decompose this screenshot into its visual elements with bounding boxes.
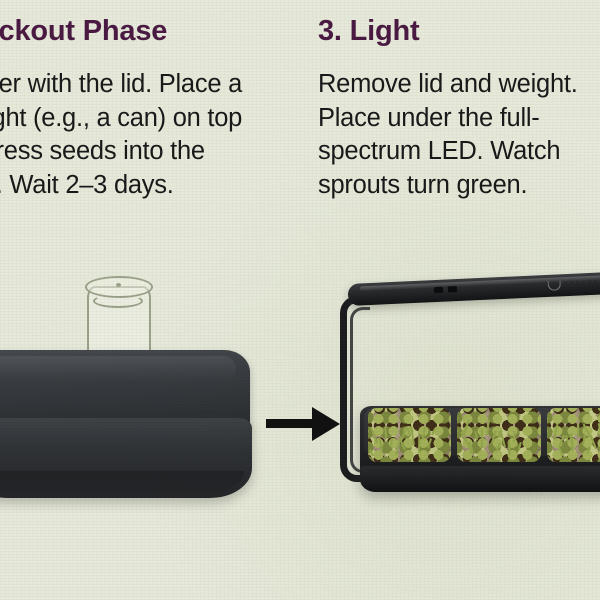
step-blackout-phase-text: Blackout Phase Cover with the lid. Place… [0,16,254,203]
sprout-tray-front-lip [360,466,600,492]
grow-pod-2 [457,408,540,462]
led-vent-slots [434,286,460,293]
sprout-stem [481,429,483,448]
step-blackout-phase-body: Cover with the lid. Place a weight (e.g.… [0,68,254,203]
scene-led-grower-with-sprouts: · · · · · · · [338,280,600,520]
arrow-head [312,407,340,441]
step-light-text: 3. Light Remove lid and weight. Place un… [318,16,600,203]
grow-pod-1 [368,408,451,462]
grow-pod-3 [547,408,600,462]
led-brand-logo-icon [548,280,561,291]
sprout-stem [577,423,579,437]
grow-pod-row [368,408,600,462]
scene-tray-with-lid-and-weight [0,268,266,508]
tray-base [0,418,252,498]
step-light-body: Remove lid and weight. Place under the f… [318,68,600,203]
led-brand-text: · · · · · · · [562,279,600,287]
arrow-shaft [266,419,316,428]
step-light-heading: 3. Light [318,16,600,48]
diagram-canvas: Blackout Phase Cover with the lid. Place… [0,0,600,600]
can-pull-tab [116,283,121,287]
led-light-bar: · · · · · · · [348,271,600,306]
flow-arrow-icon [266,406,344,440]
can-inner-lip [93,294,143,308]
sprout-stem [418,437,420,453]
step-blackout-phase-heading: Blackout Phase [0,16,254,48]
